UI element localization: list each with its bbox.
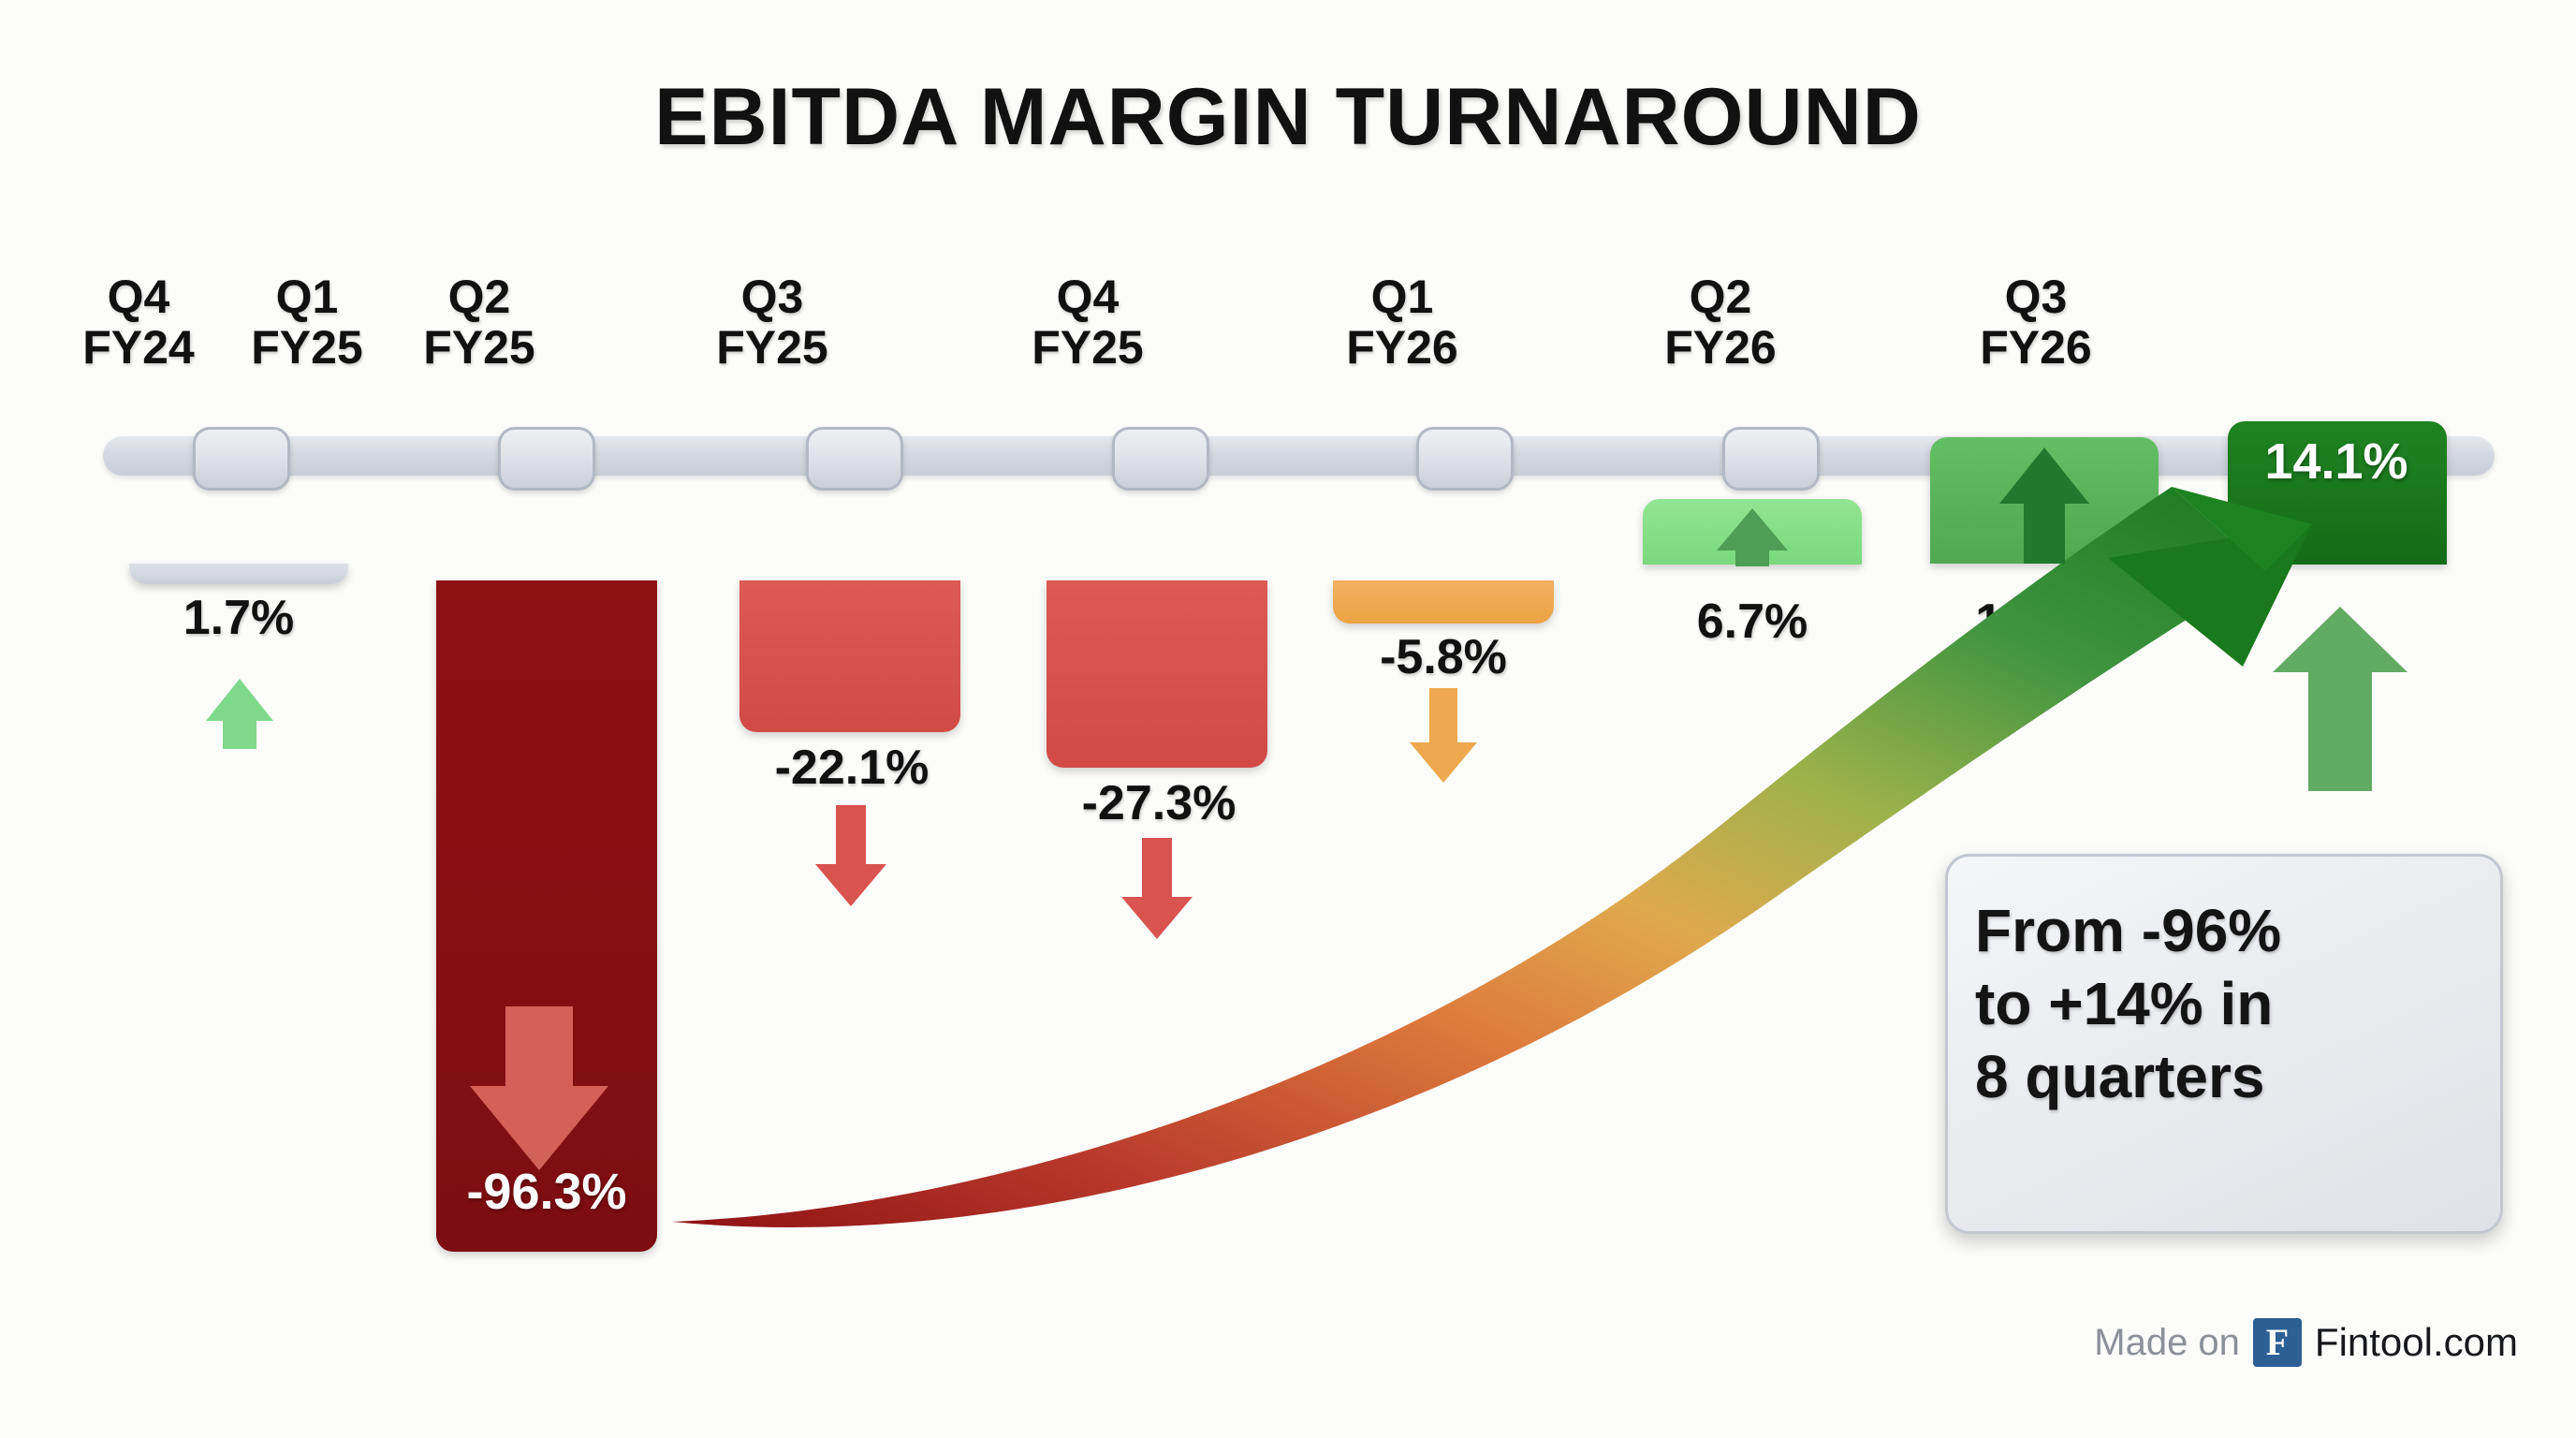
bar-value-q4fy24: 1.7%	[98, 590, 379, 646]
arrow-down-icon-q3fy25	[1121, 838, 1193, 939]
quarter-text: Q1	[1281, 271, 1524, 322]
arrow-up-icon-q4fy24	[206, 679, 273, 749]
callout-line-1: From -96%	[1975, 894, 2415, 967]
fiscal-year-text: FY25	[651, 322, 894, 373]
timeline-marker-q3fy25[interactable]	[1112, 427, 1209, 491]
bar-q4fy24[interactable]	[129, 564, 348, 584]
fiscal-year-text: FY25	[966, 322, 1209, 373]
quarter-label-q2fy26: Q2 FY26	[1599, 271, 1842, 373]
footer-brand-label: Fintool.com	[2315, 1320, 2518, 1365]
bar-q2fy25[interactable]	[739, 580, 960, 732]
callout-text: From -96% to +14% in 8 quarters	[1975, 894, 2415, 1113]
quarter-text: Q2	[1599, 271, 1842, 322]
bar-value-q4fy25: -5.8%	[1303, 629, 1584, 685]
fiscal-year-text: FY26	[1914, 322, 2158, 373]
bar-value-q1fy25: -96.3%	[406, 1163, 687, 1221]
footer-attribution[interactable]: Made on F Fintool.com	[2094, 1318, 2518, 1367]
quarter-text: Q2	[358, 271, 601, 322]
bar-value-q3fy25: -27.3%	[1018, 775, 1299, 831]
bar-q2fy26[interactable]	[1930, 437, 2159, 564]
timeline-marker-q4fy25[interactable]	[1416, 427, 1514, 491]
footer-made-on-label: Made on	[2094, 1322, 2240, 1364]
page-title: EBITDA MARGIN TURNAROUND	[0, 77, 2576, 157]
timeline-marker-q2fy25[interactable]	[806, 427, 903, 491]
arrow-down-icon-q2fy25	[815, 805, 886, 906]
quarter-label-q3fy25: Q3 FY25	[651, 271, 894, 373]
quarter-text: Q3	[1914, 271, 2158, 322]
quarter-label-q2fy25: Q2 FY25	[358, 271, 601, 373]
callout-line-2: to +14% in	[1975, 967, 2415, 1040]
bar-value-q3fy26: 14.1%	[2196, 433, 2477, 491]
bar-value-q2fy25: -22.1%	[711, 740, 992, 796]
quarter-text: Q3	[651, 271, 894, 322]
bar-value-q2fy26: 12.6%	[1904, 594, 2185, 650]
arrow-down-icon-q4fy25	[1410, 688, 1477, 783]
quarter-text: Q4	[966, 271, 1209, 322]
arrow-up-icon-growth	[2273, 607, 2408, 791]
bar-q1fy26[interactable]	[1643, 499, 1862, 565]
chart-canvas: EBITDA MARGIN TURNAROUND Q4 FY24 Q1 FY25…	[0, 0, 2576, 1438]
quarter-label-q3fy26: Q3 FY26	[1914, 271, 2158, 373]
fiscal-year-text: FY25	[358, 322, 601, 373]
timeline-marker-q4fy24[interactable]	[193, 427, 290, 491]
timeline-marker-q1fy25[interactable]	[498, 427, 595, 491]
callout-line-3: 8 quarters	[1975, 1040, 2415, 1113]
bar-q1fy25[interactable]	[436, 580, 657, 1252]
bar-q3fy25[interactable]	[1046, 580, 1267, 768]
fintool-logo-icon: F	[2253, 1318, 2302, 1367]
quarter-label-q4fy25: Q4 FY25	[966, 271, 1209, 373]
bar-q4fy25[interactable]	[1333, 580, 1554, 624]
timeline-marker-q1fy26[interactable]	[1722, 427, 1820, 491]
fiscal-year-text: FY26	[1281, 322, 1524, 373]
fiscal-year-text: FY26	[1599, 322, 1842, 373]
bar-value-q1fy26: 6.7%	[1612, 594, 1893, 650]
quarter-label-q1fy26: Q1 FY26	[1281, 271, 1524, 373]
